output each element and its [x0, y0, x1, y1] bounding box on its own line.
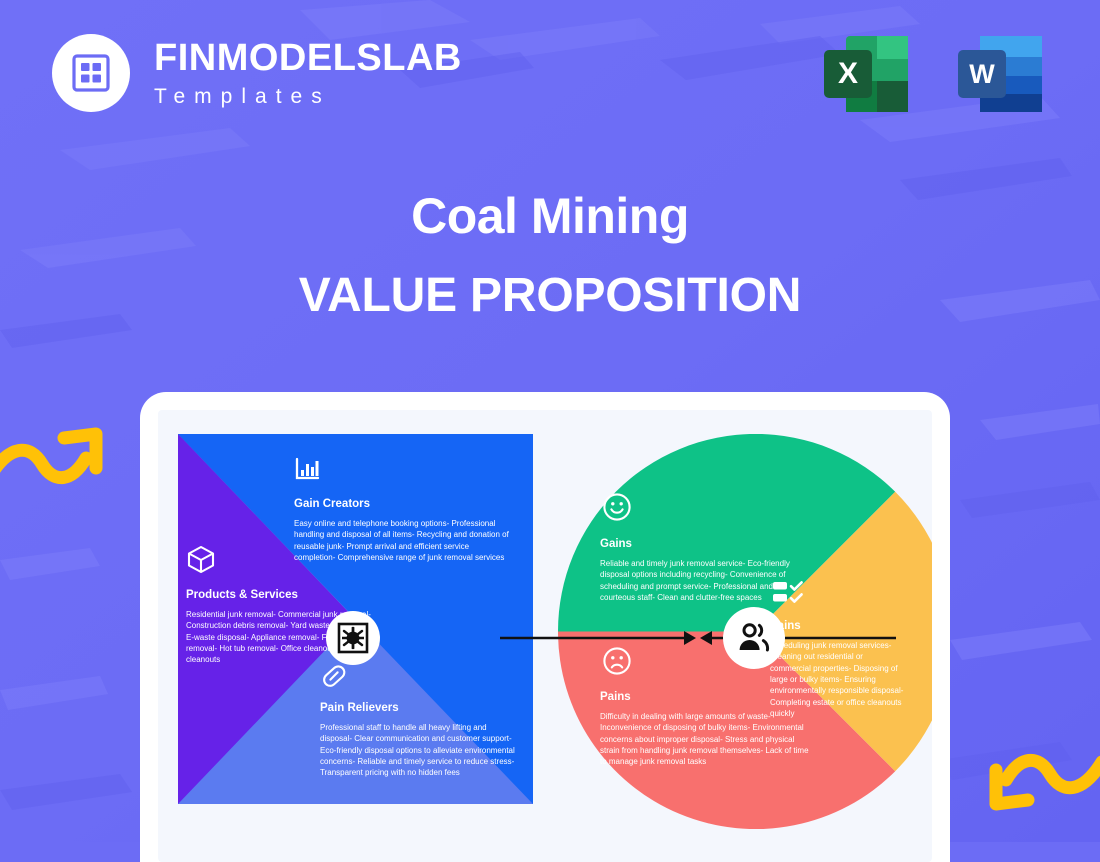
gains-body: Reliable and timely junk removal service… — [600, 558, 790, 603]
checklist-icon — [772, 580, 806, 606]
squiggle-arrow-up-right-icon — [0, 404, 126, 500]
logo-title: FINMODELSLAB — [154, 39, 462, 77]
pain-relievers-body: Professional staff to handle all heavy l… — [320, 722, 516, 779]
gain-creators-block: Gain Creators Easy online and telephone … — [294, 498, 512, 563]
pains-red-body: Difficulty in dealing with large amounts… — [600, 711, 812, 768]
smiley-face-icon — [602, 492, 632, 522]
excel-icon-letter: X — [838, 57, 858, 90]
grid-squares-icon — [70, 52, 112, 94]
gain-creators-body: Easy online and telephone booking option… — [294, 518, 512, 563]
bar-chart-icon — [294, 456, 320, 482]
brand-logo[interactable]: FINMODELSLAB Templates — [52, 34, 462, 112]
fit-connector-arrows — [498, 626, 898, 650]
customer-people-icon — [734, 618, 774, 658]
word-icon-letter: W — [969, 59, 995, 89]
excel-icon[interactable]: X — [818, 28, 914, 120]
sad-face-icon — [602, 646, 632, 676]
page-subtitle: VALUE PROPOSITION — [0, 268, 1100, 323]
squiggle-arrow-down-left-icon — [966, 748, 1100, 844]
customer-profile-center-badge[interactable] — [723, 607, 785, 669]
pain-relievers-block: Pain Relievers Professional staff to han… — [320, 702, 516, 779]
pill-capsule-icon — [320, 662, 348, 690]
gift-product-icon — [335, 620, 371, 656]
title-block: Coal Mining VALUE PROPOSITION — [0, 188, 1100, 323]
logo-text-block: FINMODELSLAB Templates — [154, 39, 462, 107]
laptop-screen: Gain Creators Easy online and telephone … — [158, 410, 932, 862]
logo-subtitle: Templates — [154, 86, 462, 107]
box-package-icon — [186, 544, 216, 574]
logo-circle — [52, 34, 130, 112]
gain-creators-title: Gain Creators — [294, 498, 512, 512]
pains-red-title: Pains — [600, 691, 812, 705]
word-icon[interactable]: W — [952, 28, 1048, 120]
pains-red-block: Pains Difficulty in dealing with large a… — [600, 691, 812, 768]
gains-block: Gains Reliable and timely junk removal s… — [600, 538, 790, 603]
app-icon-group: X W — [818, 28, 1048, 120]
laptop-frame: Gain Creators Easy online and telephone … — [140, 392, 950, 862]
value-map-center-badge[interactable] — [326, 611, 380, 665]
gains-title: Gains — [600, 538, 790, 552]
page-title: Coal Mining — [0, 188, 1100, 246]
page-header: FINMODELSLAB Templates X — [0, 0, 1100, 150]
pain-relievers-title: Pain Relievers — [320, 702, 516, 716]
products-services-title: Products & Services — [186, 589, 372, 603]
